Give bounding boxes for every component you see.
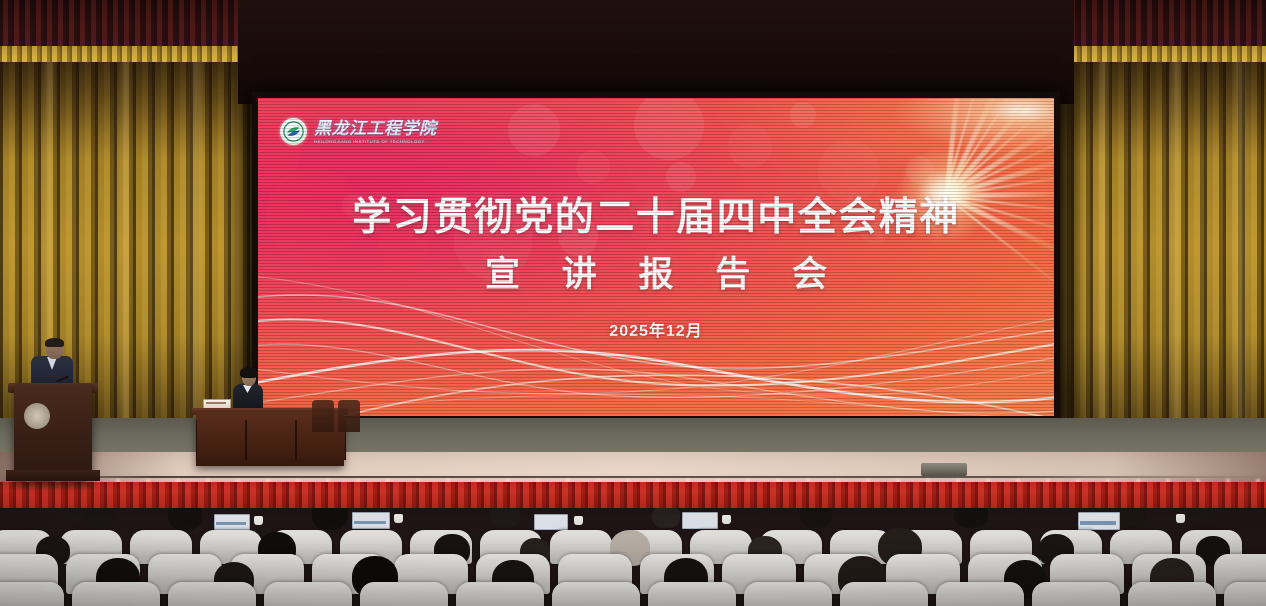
stage-chair bbox=[338, 400, 360, 432]
audience-seat bbox=[72, 582, 160, 606]
institution-name-cn: 黑龙江工程学院 bbox=[314, 120, 437, 137]
audience-seat bbox=[456, 582, 544, 606]
document-booklet bbox=[682, 512, 718, 529]
audience-member bbox=[652, 508, 680, 528]
conference-title-sub: 宣 讲 报 告 会 bbox=[258, 254, 1054, 296]
circular-swoosh-emblem-icon bbox=[280, 118, 307, 145]
audience-member bbox=[490, 508, 520, 528]
bokeh-circle bbox=[728, 124, 772, 168]
audience-member bbox=[84, 508, 114, 528]
podium-base bbox=[6, 470, 100, 481]
audience-member bbox=[954, 508, 988, 528]
stage-cable bbox=[0, 476, 1266, 478]
audience-seat bbox=[648, 582, 736, 606]
audience-member bbox=[800, 508, 832, 528]
presider-hair bbox=[240, 367, 258, 378]
audience-seat bbox=[360, 582, 448, 606]
document-band bbox=[354, 521, 386, 524]
audience-seat bbox=[1224, 582, 1266, 606]
institution-logo: 黑龙江工程学院 HEILONGJIANG INSTITUTE OF TECHNO… bbox=[280, 118, 437, 145]
paper-cup bbox=[254, 516, 263, 525]
document-band bbox=[1080, 521, 1116, 525]
institution-logo-text: 黑龙江工程学院 HEILONGJIANG INSTITUTE OF TECHNO… bbox=[314, 120, 437, 144]
audience-member bbox=[312, 508, 348, 530]
bokeh-circle bbox=[508, 104, 560, 156]
bokeh-circle bbox=[576, 150, 610, 184]
audience-seat bbox=[264, 582, 352, 606]
led-screen-frame: 黑龙江工程学院 HEILONGJIANG INSTITUTE OF TECHNO… bbox=[252, 92, 1060, 422]
document-band bbox=[216, 522, 246, 525]
audience-seat bbox=[744, 582, 832, 606]
nameplate-text bbox=[206, 402, 226, 404]
audience-member bbox=[168, 508, 202, 530]
paper-cup bbox=[722, 515, 731, 524]
audience-seat bbox=[1032, 582, 1120, 606]
screen-backdrop bbox=[238, 0, 1074, 104]
auditorium-photo-scene: 黑龙江工程学院 HEILONGJIANG INSTITUTE OF TECHNO… bbox=[0, 0, 1266, 606]
institution-name-en: HEILONGJIANG INSTITUTE OF TECHNOLOGY bbox=[314, 139, 437, 144]
speaker-hair bbox=[45, 338, 64, 347]
document-booklet bbox=[534, 514, 568, 530]
paper-cup bbox=[394, 514, 403, 523]
paper-cup bbox=[574, 516, 583, 525]
audience-seat bbox=[552, 582, 640, 606]
paper-cup bbox=[1176, 514, 1185, 523]
floor-monitor-speaker bbox=[921, 463, 967, 476]
podium bbox=[14, 385, 92, 481]
audience-seat bbox=[840, 582, 928, 606]
conference-title-main: 学习贯彻党的二十届四中全会精神 bbox=[258, 194, 1054, 242]
stage-chair bbox=[312, 400, 334, 432]
audience-seat bbox=[1128, 582, 1216, 606]
head-table-panel bbox=[246, 420, 296, 460]
school-emblem-icon bbox=[24, 403, 50, 429]
audience-seat bbox=[936, 582, 1024, 606]
seated-audience bbox=[0, 508, 1266, 606]
bokeh-circle bbox=[634, 98, 704, 160]
audience-seat bbox=[168, 582, 256, 606]
led-screen: 黑龙江工程学院 HEILONGJIANG INSTITUTE OF TECHNO… bbox=[258, 98, 1054, 416]
audience-seat bbox=[0, 582, 64, 606]
head-table-panel bbox=[196, 420, 246, 460]
audience-member bbox=[1116, 508, 1146, 528]
screen-title-block: 学习贯彻党的二十届四中全会精神 宣 讲 报 告 会 2025年12月 bbox=[258, 194, 1054, 342]
conference-date: 2025年12月 bbox=[258, 322, 1054, 342]
bokeh-circle bbox=[666, 162, 696, 192]
